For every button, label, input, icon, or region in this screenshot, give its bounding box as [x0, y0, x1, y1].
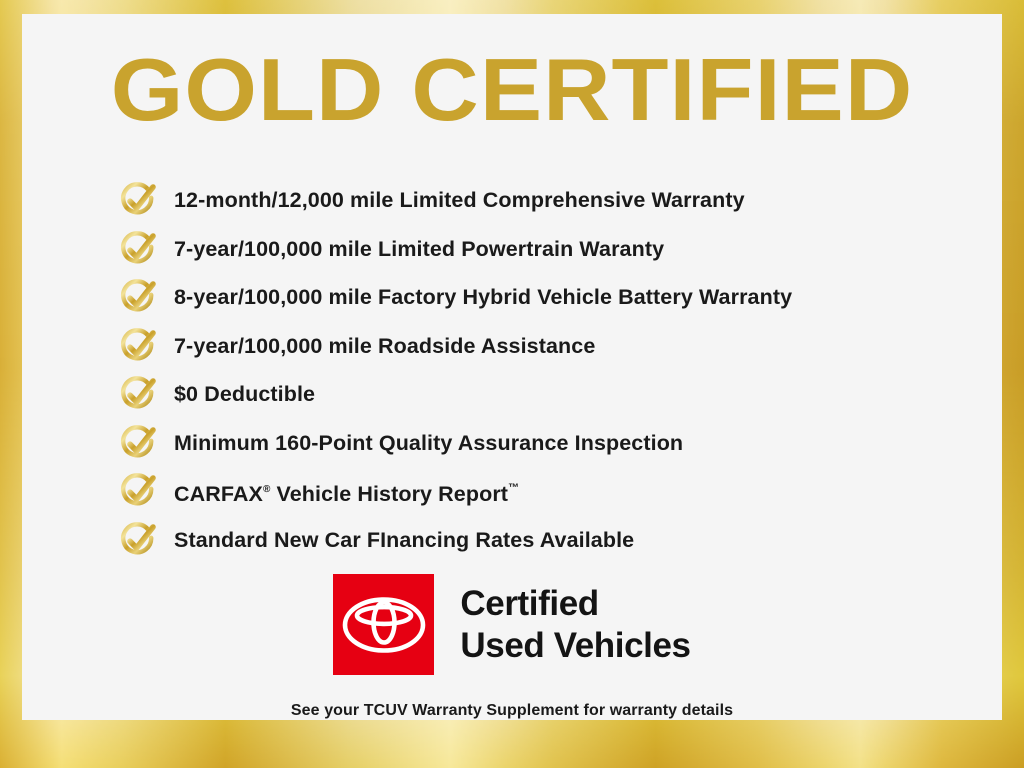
carfax-report-label: Vehicle History Report	[270, 482, 508, 506]
list-item-label: 7-year/100,000 mile Limited Powertrain W…	[174, 237, 664, 261]
page-title: GOLD CERTIFIED	[0, 42, 1024, 138]
gold-check-circle-icon	[118, 374, 160, 414]
list-item: Minimum 160-Point Quality Assurance Insp…	[118, 419, 978, 468]
warranty-disclaimer: See your TCUV Warranty Supplement for wa…	[22, 702, 1002, 720]
list-item-label: 7-year/100,000 mile Roadside Assistance	[174, 334, 595, 358]
list-item-label: Minimum 160-Point Quality Assurance Insp…	[174, 431, 683, 455]
list-item-label: Standard New Car FInancing Rates Availab…	[174, 528, 634, 552]
toyota-logo-tile	[333, 574, 434, 675]
toyota-certified-used-vehicles-lockup: Certified Used Vehicles	[22, 574, 1002, 675]
list-item: 7-year/100,000 mile Limited Powertrain W…	[118, 225, 978, 274]
lockup-wordmark: Certified Used Vehicles	[460, 583, 690, 667]
toyota-emblem-icon	[341, 595, 427, 655]
list-item-label: $0 Deductible	[174, 382, 315, 406]
feature-list: 12-month/12,000 mile Limited Comprehensi…	[118, 176, 978, 564]
trademark-icon: ™	[508, 482, 519, 494]
list-item: CARFAX® Vehicle History Report™	[118, 467, 978, 516]
gold-check-circle-icon	[118, 471, 160, 511]
gold-check-circle-icon	[118, 326, 160, 366]
list-item: Standard New Car FInancing Rates Availab…	[118, 516, 978, 565]
carfax-wordmark: CARFAX	[174, 482, 263, 506]
list-item: $0 Deductible	[118, 370, 978, 419]
lockup-line-1: Certified	[460, 583, 690, 625]
gold-check-circle-icon	[118, 277, 160, 317]
lockup-line-2: Used Vehicles	[460, 625, 690, 667]
gold-check-circle-icon	[118, 180, 160, 220]
list-item-label-carfax: CARFAX® Vehicle History Report™	[174, 476, 519, 506]
content-card: GOLD CERTIFIED	[22, 14, 1002, 720]
gold-check-circle-icon	[118, 520, 160, 560]
gold-check-circle-icon	[118, 229, 160, 269]
gold-check-circle-icon	[118, 423, 160, 463]
list-item-label: 12-month/12,000 mile Limited Comprehensi…	[174, 188, 745, 212]
list-item: 12-month/12,000 mile Limited Comprehensi…	[118, 176, 978, 225]
list-item: 7-year/100,000 mile Roadside Assistance	[118, 322, 978, 371]
list-item-label: 8-year/100,000 mile Factory Hybrid Vehic…	[174, 285, 792, 309]
list-item: 8-year/100,000 mile Factory Hybrid Vehic…	[118, 273, 978, 322]
certified-badge-canvas: GOLD CERTIFIED	[0, 0, 1024, 768]
